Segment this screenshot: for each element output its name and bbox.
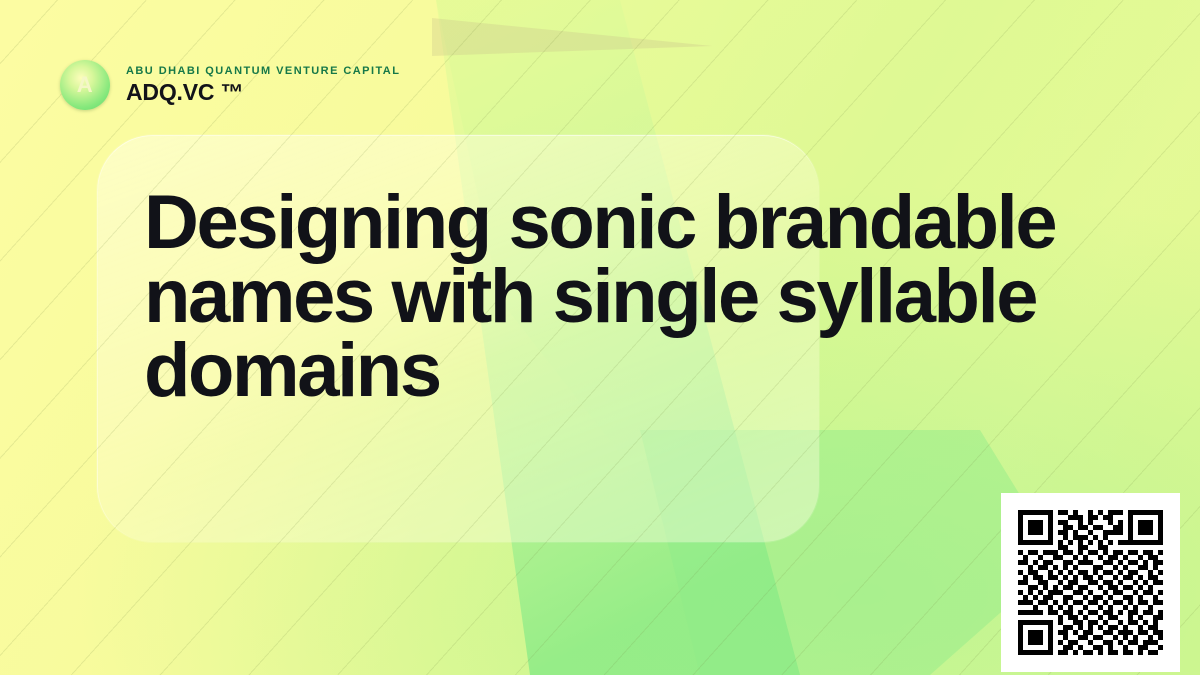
qr-code-panel [1001, 493, 1180, 672]
avatar: A [60, 60, 110, 110]
brand-tagline: ABU DHABI QUANTUM VENTURE CAPITAL [126, 65, 400, 77]
brand-block: A ABU DHABI QUANTUM VENTURE CAPITAL ADQ.… [60, 60, 400, 110]
poster-canvas: A ABU DHABI QUANTUM VENTURE CAPITAL ADQ.… [0, 0, 1200, 675]
brand-text: ABU DHABI QUANTUM VENTURE CAPITAL ADQ.VC… [126, 65, 400, 105]
page-title: Designing sonic brandable names with sin… [144, 186, 1124, 408]
brand-name: ADQ.VC ™ [126, 80, 400, 105]
qr-code-icon[interactable] [1018, 510, 1163, 655]
avatar-letter: A [77, 74, 93, 96]
background-wedge-shape [432, 10, 712, 56]
